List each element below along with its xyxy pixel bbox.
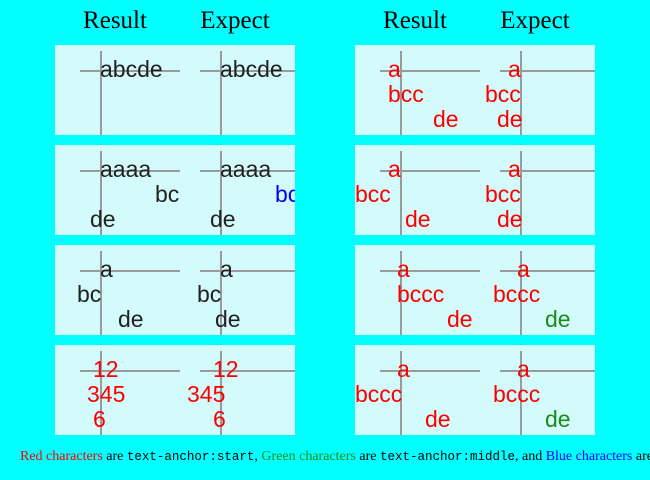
panel-row2-left: aaaabcdeaaaabcde <box>55 145 295 235</box>
text-run: de <box>497 107 523 132</box>
text-run: a <box>397 357 410 382</box>
text-run: de <box>497 207 523 232</box>
panel-row1-right-expect: abccde <box>475 45 595 135</box>
panel-row2-left-result: aaaabcde <box>55 145 175 235</box>
text-run: bcc <box>485 82 521 107</box>
caption: Red characters are text-anchor:start, Gr… <box>20 448 650 466</box>
caption-are-3: are <box>632 449 650 464</box>
panel-row1-right-result: abccde <box>355 45 475 135</box>
text-run: abcde <box>100 57 163 82</box>
text-run: bcc <box>355 182 391 207</box>
text-run: de <box>545 307 571 332</box>
guide-horizontal-line <box>500 270 595 272</box>
text-run: bccc <box>397 282 444 307</box>
text-run: a <box>397 257 410 282</box>
panel-row4-right: abcccdeabcccde <box>355 345 595 435</box>
text-run: de <box>405 207 431 232</box>
text-run: bccc <box>355 382 402 407</box>
panel-row3-left: abcdeabcde <box>55 245 295 335</box>
panel-row2-left-expect: aaaabcde <box>175 145 295 235</box>
text-run: a <box>100 257 113 282</box>
column-header-4: Expect <box>475 4 595 38</box>
caption-are-1: are <box>103 449 127 464</box>
text-run: 345 <box>187 382 225 407</box>
text-run: bc <box>77 282 101 307</box>
text-run: a <box>220 257 233 282</box>
caption-red-label: Red characters <box>20 449 103 464</box>
text-run: a <box>517 357 530 382</box>
caption-anchor-middle: text-anchor:middle <box>380 450 515 464</box>
column-headers: ResultExpectResultExpect <box>0 4 650 42</box>
panel-row4-right-expect: abcccde <box>475 345 595 435</box>
guide-horizontal-line <box>200 270 295 272</box>
guide-horizontal-line <box>500 370 595 372</box>
panel-row4-left: 123456123456 <box>55 345 295 435</box>
panel-row3-right-result: abcccde <box>355 245 475 335</box>
text-run: de <box>90 207 116 232</box>
text-run: de <box>215 307 241 332</box>
text-run: abcde <box>220 57 283 82</box>
text-run: de <box>545 407 571 432</box>
text-run: a <box>388 57 401 82</box>
text-run: 345 <box>87 382 125 407</box>
caption-blue-label: Blue characters <box>546 449 633 464</box>
panel-row3-left-expect: abcde <box>175 245 295 335</box>
guide-horizontal-line <box>380 270 480 272</box>
text-run: bc <box>197 282 221 307</box>
text-run: de <box>210 207 236 232</box>
text-run: de <box>447 307 473 332</box>
panel-row1-left-result: abcde <box>55 45 175 135</box>
caption-anchor-start: text-anchor:start <box>127 450 255 464</box>
panel-row3-right: abcccdeabcccde <box>355 245 595 335</box>
panel-row1-right: abccdeabccde <box>355 45 595 135</box>
text-run: bccc <box>493 382 540 407</box>
text-run: 12 <box>213 357 239 382</box>
panel-row2-right: abccdeabccde <box>355 145 595 235</box>
guide-horizontal-line <box>380 370 480 372</box>
text-run: 12 <box>93 357 119 382</box>
text-run: bcc <box>388 82 424 107</box>
text-run: bccc <box>493 282 540 307</box>
column-header-3: Result <box>355 4 475 38</box>
screenshot-root: ResultExpectResultExpect abcdeabcdeaaaab… <box>0 0 650 480</box>
column-header-2: Expect <box>175 4 295 38</box>
column-header-1: Result <box>55 4 175 38</box>
panel-row4-left-result: 123456 <box>55 345 175 435</box>
panel-row4-left-expect: 123456 <box>175 345 295 435</box>
panel-row1-left: abcdeabcde <box>55 45 295 135</box>
caption-green-label: Green characters <box>261 449 355 464</box>
text-run: de <box>118 307 144 332</box>
text-run: de <box>425 407 451 432</box>
text-run: aaaa <box>220 157 271 182</box>
panel-row2-right-result: abccde <box>355 145 475 235</box>
caption-comma-2: , and <box>515 449 546 464</box>
panel-row3-left-result: abcde <box>55 245 175 335</box>
panel-row4-right-result: abcccde <box>355 345 475 435</box>
text-run: bc <box>275 182 295 207</box>
text-run: aaaa <box>100 157 151 182</box>
panel-row2-right-expect: abccde <box>475 145 595 235</box>
text-run: bcc <box>485 182 521 207</box>
text-run: 6 <box>213 407 226 432</box>
guide-horizontal-line <box>80 270 180 272</box>
text-run: de <box>433 107 459 132</box>
panel-row3-right-expect: abcccde <box>475 245 595 335</box>
text-run: a <box>508 57 521 82</box>
caption-are-2: are <box>356 449 380 464</box>
text-run: a <box>517 257 530 282</box>
text-run: a <box>508 157 521 182</box>
text-run: a <box>388 157 401 182</box>
text-run: 6 <box>93 407 106 432</box>
panel-row1-left-expect: abcde <box>175 45 295 135</box>
